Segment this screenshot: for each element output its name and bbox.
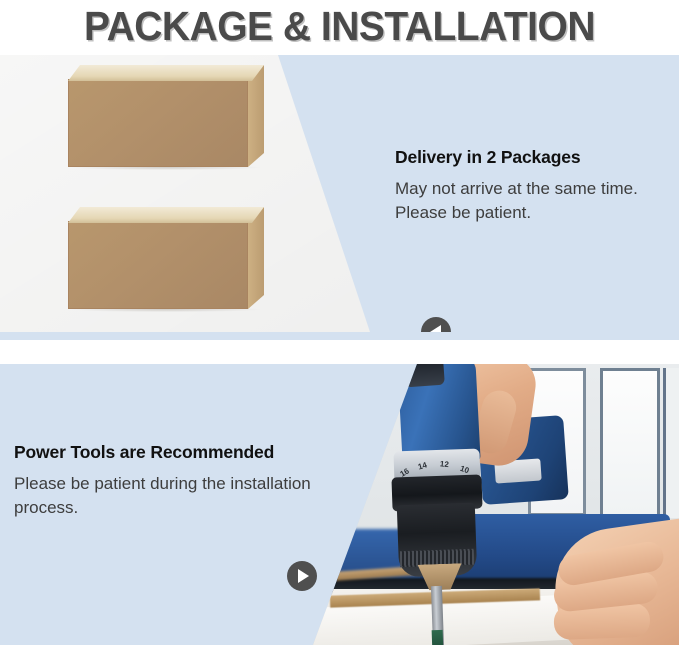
package-box-1-top [68, 65, 264, 81]
package-box-1-front [68, 79, 248, 167]
panel-divider-blue-strip [0, 332, 679, 340]
powertools-heading: Power Tools are Recommended [14, 442, 314, 463]
delivery-body: May not arrive at the same time. Please … [395, 177, 663, 225]
photo-window-far [663, 368, 679, 518]
clutch-number-10: 10 [459, 464, 470, 476]
panel-delivery: Delivery in 2 Packages May not arrive at… [0, 55, 679, 332]
panel-powertools: 16 14 12 10 Power Tools are Recommended … [0, 364, 679, 645]
photo-window-right [600, 368, 660, 518]
arrow-right-icon [287, 561, 317, 591]
photo-drill-vent [403, 364, 445, 387]
photo-drill-bit-tip [432, 630, 444, 645]
package-box-2-top [68, 207, 264, 223]
arrow-left-icon-triangle [430, 325, 441, 332]
page-title: PACKAGE & INSTALLATION [17, 0, 662, 52]
arrow-right-icon-triangle [298, 569, 309, 583]
clutch-number-14: 14 [417, 460, 428, 471]
delivery-text-block: Delivery in 2 Packages May not arrive at… [395, 147, 663, 225]
panel-divider-white-gap [0, 340, 679, 364]
clutch-number-12: 12 [439, 459, 449, 469]
package-box-2-front [68, 221, 248, 309]
powertools-body: Please be patient during the installatio… [14, 472, 314, 520]
powertools-text-block: Power Tools are Recommended Please be pa… [14, 442, 314, 520]
delivery-heading: Delivery in 2 Packages [395, 147, 663, 168]
